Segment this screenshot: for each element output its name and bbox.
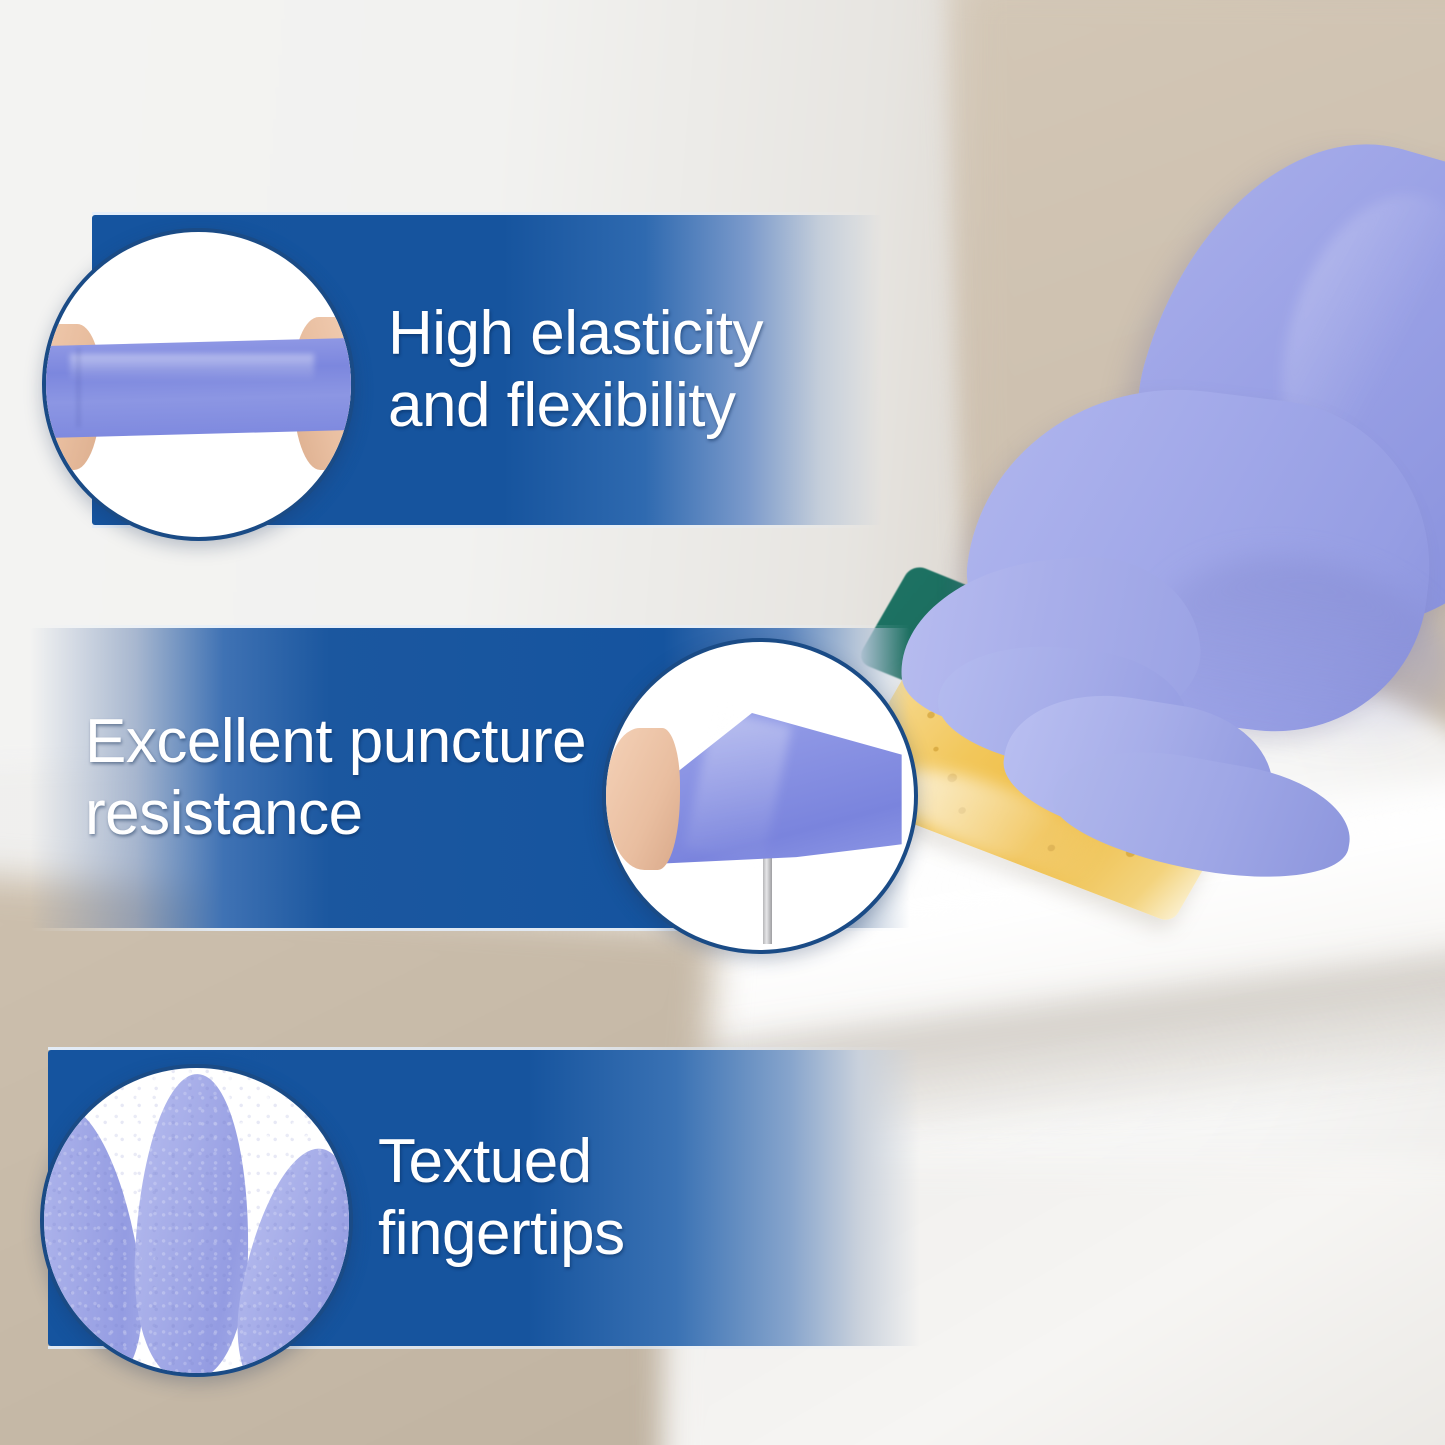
banner-edge-top <box>30 625 910 628</box>
thumbnail-image-puncture <box>606 642 914 950</box>
feature-title-textured: Textued fingertips <box>378 1126 625 1270</box>
stretched-glove-band <box>42 338 355 438</box>
holding-hand <box>606 728 680 870</box>
glove-band-fold <box>77 348 80 427</box>
thumbnail-image-stretch <box>46 232 351 537</box>
glove-fingertips-thumbnail <box>40 1064 353 1377</box>
glove-puncture-thumbnail <box>602 638 918 954</box>
banner-edge-top <box>48 1047 920 1050</box>
metal-spike <box>763 851 772 943</box>
feature-title-puncture: Excellent puncture resistance <box>85 706 586 850</box>
infographic-canvas: High elasticity and flexibility Excellen… <box>0 0 1445 1445</box>
banner-edge-top <box>92 212 882 215</box>
glove-stretch-thumbnail <box>42 228 355 541</box>
feature-title-elasticity: High elasticity and flexibility <box>388 298 763 442</box>
glove-band-highlight <box>70 354 314 381</box>
thumbnail-image-fingertips <box>44 1068 349 1373</box>
fingertip-texture <box>44 1068 349 1373</box>
